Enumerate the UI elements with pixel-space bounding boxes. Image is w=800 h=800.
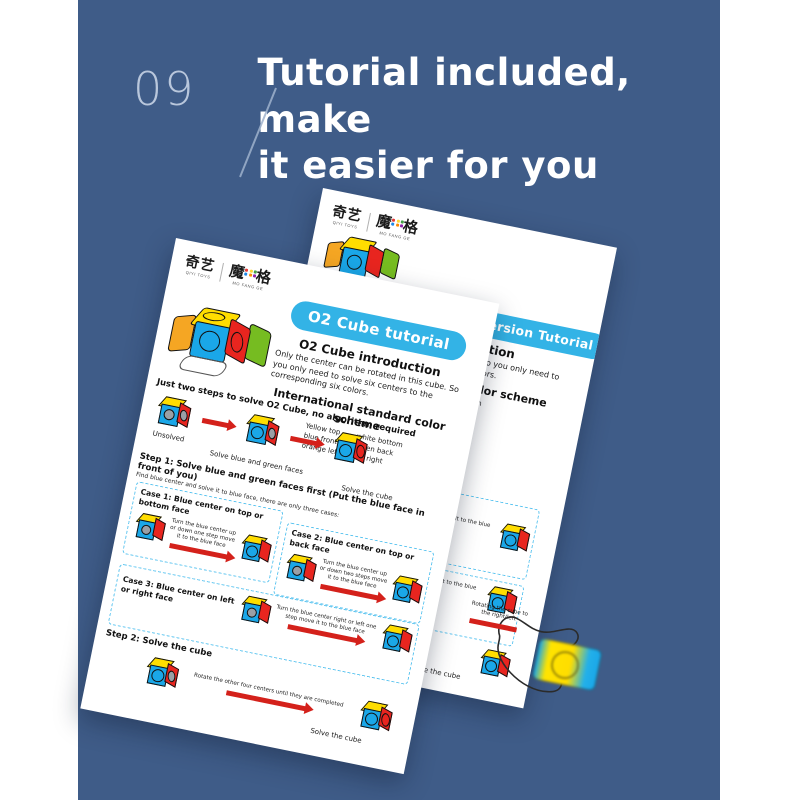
front-case2-cube-before bbox=[282, 551, 317, 586]
logo-divider bbox=[219, 262, 224, 281]
color-dots-icon bbox=[243, 268, 257, 281]
front-case3-cube-before bbox=[237, 593, 272, 628]
front-case3-title-wrap: Case 3: Blue center on left or right fac… bbox=[120, 575, 242, 618]
front-flow-arrow-2 bbox=[290, 435, 318, 445]
cube-face-right bbox=[399, 629, 413, 652]
back-case2-cube-after bbox=[495, 521, 530, 556]
front-step2-cube-before bbox=[142, 655, 180, 693]
front-flow-cube-mid bbox=[240, 412, 280, 452]
logo-divider bbox=[366, 212, 371, 231]
front-case1-cube-after bbox=[237, 532, 272, 567]
front-step2-note: Rotate the other four centers until they… bbox=[183, 670, 355, 712]
front-case3-cube-after bbox=[378, 622, 413, 657]
front-flow-cube-unsolved bbox=[152, 394, 192, 434]
front-flow-arrow-1 bbox=[202, 417, 230, 427]
section-number: 09 bbox=[133, 66, 196, 112]
page-title-line1: Tutorial included, make bbox=[258, 51, 631, 141]
cube-face-right bbox=[517, 528, 531, 551]
front-flow-cube-solved bbox=[328, 430, 368, 470]
page-title-line2: it easier for you bbox=[258, 143, 720, 190]
front-case3-title: Case 3: Blue center on left or right fac… bbox=[120, 575, 242, 618]
qiyi-logo-front: 奇艺 QIYI TOYS bbox=[183, 255, 216, 281]
color-dots-icon bbox=[390, 218, 404, 231]
cube-face-right bbox=[409, 580, 423, 603]
front-case1-cube-before bbox=[131, 510, 166, 545]
cube-face-right bbox=[258, 539, 272, 562]
exploded-cube-illustration-front bbox=[164, 298, 276, 388]
headline-block: 09 Tutorial included, make it easier for… bbox=[78, 48, 720, 178]
front-step2-note-wrap: Rotate the other four centers until they… bbox=[175, 669, 361, 722]
mofangge-logo-front: 魔格 MO FANG GE bbox=[227, 263, 272, 292]
screenshot-canvas: 09 Tutorial included, make it easier for… bbox=[0, 0, 800, 800]
page-title: Tutorial included, make it easier for yo… bbox=[258, 50, 720, 190]
qiyi-logo-back: 奇艺 QIYI TOYS bbox=[330, 205, 363, 231]
front-case2-cube-after bbox=[388, 573, 423, 608]
front-step2-cube-after bbox=[356, 698, 394, 736]
